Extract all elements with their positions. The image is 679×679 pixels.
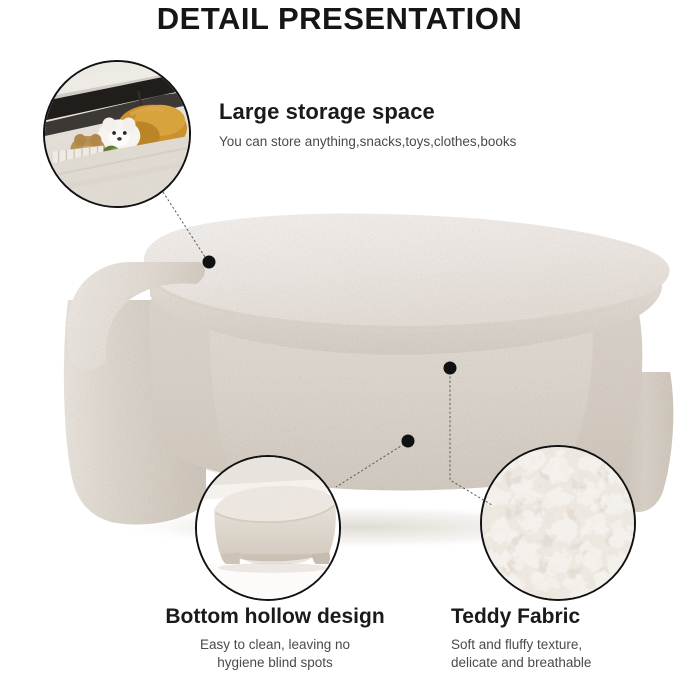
open-storage-interior-photo: [45, 62, 189, 206]
callout-title-teddy: Teddy Fabric: [451, 604, 679, 630]
callout-large-storage-space: Large storage space You can store anythi…: [219, 99, 649, 151]
callout-subtitle-teddy: Soft and fluffy texture, delicate and br…: [451, 636, 679, 672]
inset-open-storage-photo: [43, 60, 191, 208]
callout-title-storage: Large storage space: [219, 99, 649, 125]
teddy-fabric-closeup-photo: [482, 447, 634, 599]
callout-subtitle-hollow-line1: Easy to clean, leaving no: [130, 636, 420, 654]
callout-subtitle-storage: You can store anything,snacks,toys,cloth…: [219, 132, 649, 151]
callout-teddy-fabric: Teddy Fabric Soft and fluffy texture, de…: [443, 604, 679, 672]
callout-subtitle-teddy-line1: Soft and fluffy texture,: [451, 636, 679, 654]
callout-title-hollow: Bottom hollow design: [130, 604, 420, 630]
inset-teddy-fabric-closeup: [480, 445, 636, 601]
callout-subtitle-hollow: Easy to clean, leaving no hygiene blind …: [130, 636, 420, 672]
bench-underside-photo: [197, 457, 339, 599]
callout-subtitle-hollow-line2: hygiene blind spots: [130, 654, 420, 672]
detail-presentation-page: DETAIL PRESENTATION: [0, 0, 679, 679]
callout-subtitle-teddy-line2: delicate and breathable: [451, 654, 679, 672]
inset-bench-underside-photo: [195, 455, 341, 601]
callout-bottom-hollow-design: Bottom hollow design Easy to clean, leav…: [130, 604, 420, 672]
